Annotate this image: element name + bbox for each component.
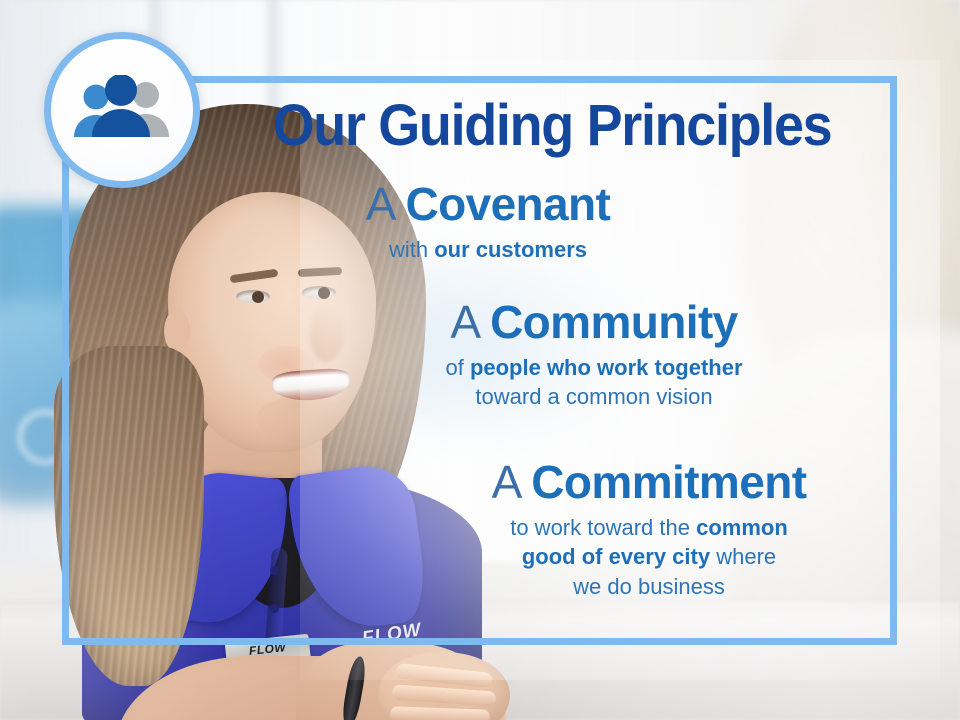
people-group-icon (70, 75, 174, 145)
pupil-left (252, 291, 264, 303)
foreground-person: FLOW FLOW Automotive (60, 96, 480, 720)
people-group-badge (44, 32, 200, 188)
shirt-button (270, 566, 279, 575)
pupil-right (318, 287, 330, 299)
finger (390, 706, 490, 720)
chin (256, 396, 346, 442)
guiding-principles-poster: FLOW FLOW Automotive (0, 0, 960, 720)
shirt-button (270, 604, 279, 613)
ear (164, 310, 190, 352)
hair-front-left-strands (54, 346, 204, 686)
